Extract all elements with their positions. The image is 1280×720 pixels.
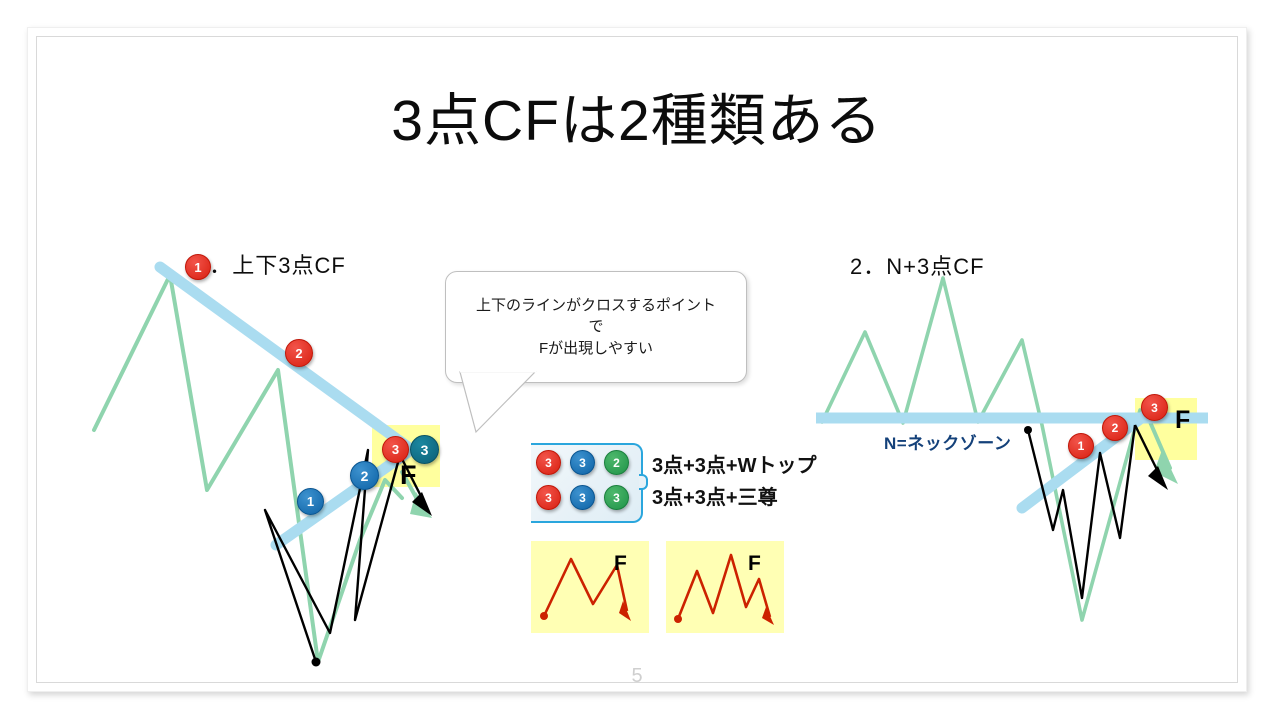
callout-bubble: 上下のラインがクロスするポイント で Fが出現しやすい [445, 271, 747, 383]
left-marker-red-3: 3 [382, 436, 409, 463]
left-marker-red-2: 2 [285, 339, 313, 367]
legend-dot-grid: 3 3 2 3 3 3 [536, 447, 636, 515]
right-f-label: F [1175, 408, 1190, 433]
triple-top-pattern-svg [666, 541, 784, 633]
left-chart-diagram: 1 2 3 1 2 3 F [60, 240, 480, 680]
right-marker-red-3: 3 [1141, 394, 1168, 421]
right-chart-diagram: 1 2 3 F [810, 250, 1230, 670]
neck-zone-label: N=ネックゾーン [884, 429, 1011, 454]
right-chart-svg [810, 250, 1230, 670]
left-marker-red-1: 1 [185, 254, 211, 280]
triple-top-pattern-box [666, 541, 784, 633]
left-marker-blue-2: 2 [350, 461, 379, 490]
slide-root: 3点CFは2種類ある 1．上下3点CF 2．N+3点CF 5 [0, 0, 1280, 720]
triple-top-pattern-f-label: F [748, 553, 761, 574]
callout-tail [440, 370, 570, 440]
right-marker-red-1: 1 [1068, 433, 1094, 459]
legend-panel-nub [639, 474, 648, 490]
legend-dot-r1-c2: 3 [604, 485, 629, 510]
callout-text: 上下のラインがクロスするポイント で Fが出現しやすい [466, 295, 726, 359]
price-start-dot [1024, 426, 1032, 434]
w-top-pattern-box [531, 541, 649, 633]
w-top-pattern-svg [531, 541, 649, 633]
right-marker-red-2: 2 [1102, 415, 1128, 441]
legend-row-0-text: 3点+3点+Wトップ [652, 449, 816, 478]
legend-dot-r0-c0: 3 [536, 450, 561, 475]
left-marker-blue-1: 1 [297, 488, 324, 515]
legend-row-1-text: 3点+3点+三尊 [652, 481, 778, 510]
legend-dot-r1-c1: 3 [570, 485, 595, 510]
legend-dot-r0-c2: 2 [604, 450, 629, 475]
page-title: 3点CFは2種類ある [28, 86, 1246, 156]
w-top-pattern-f-label: F [614, 553, 627, 574]
price-start-dot [312, 658, 321, 667]
legend-dot-r0-c1: 3 [570, 450, 595, 475]
legend-dot-r1-c0: 3 [536, 485, 561, 510]
left-f-label: F [400, 462, 417, 489]
